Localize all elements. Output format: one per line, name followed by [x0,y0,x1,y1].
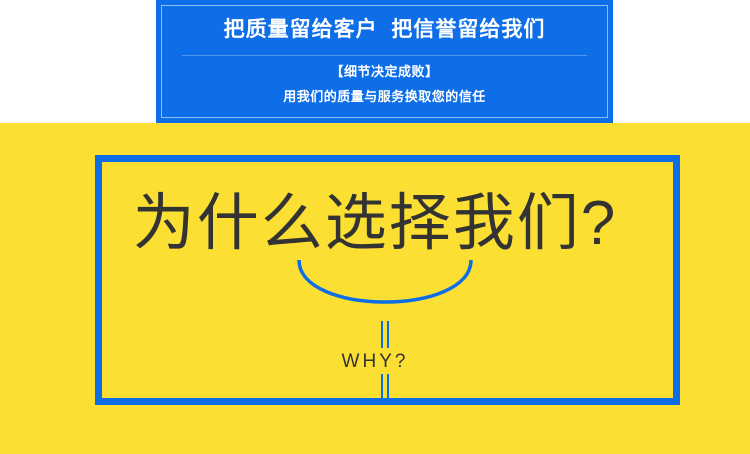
stem-line-left [381,321,383,348]
why-label: WHY? [0,350,750,374]
stem-upper-double-line [381,321,389,348]
page-title: 为什么选择我们? [0,185,750,263]
stem-line-left [381,374,383,400]
stem-lower-double-line [381,374,389,400]
stem-line-right [387,321,389,348]
smile-arc-icon [297,258,473,326]
promo-banner-graphic: 把质量留给客户 把信誉留给我们 【细节决定成败】 用我们的质量与服务换取您的信任… [0,0,750,454]
blue-slogan-banner: 把质量留给客户 把信誉留给我们 【细节决定成败】 用我们的质量与服务换取您的信任 [156,0,613,123]
banner-subtitle-secondary: 用我们的质量与服务换取您的信任 [156,87,613,107]
frame-edge-top [95,155,680,162]
why-label-text: WHY? [334,351,417,372]
banner-subtitle-primary: 【细节决定成败】 [156,62,613,82]
banner-headline: 把质量留给客户 把信誉留给我们 [156,15,613,45]
stem-line-right [387,374,389,400]
banner-divider [182,55,587,56]
